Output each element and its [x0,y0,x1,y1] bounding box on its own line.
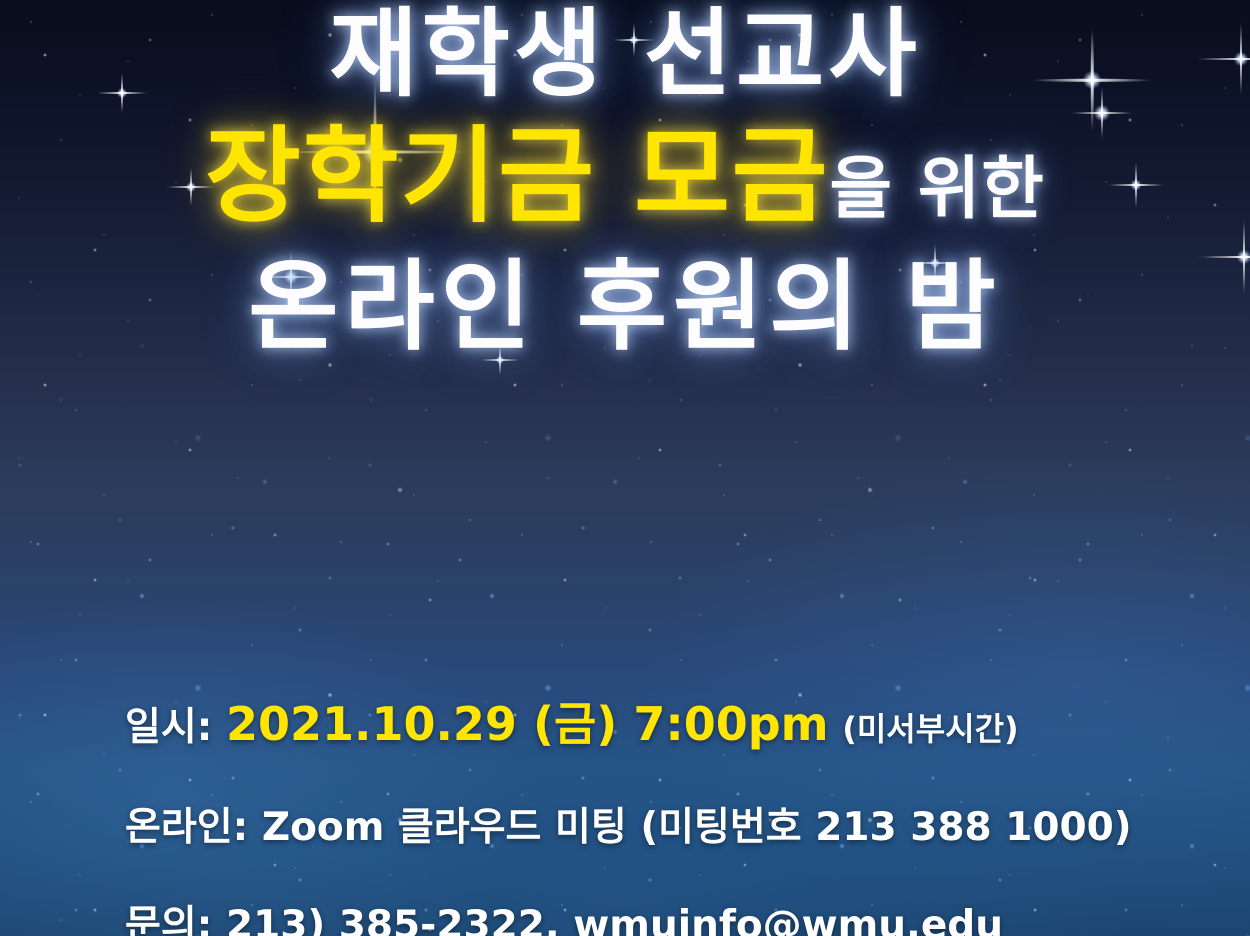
contact-value: 213) 385-2322, wmuinfo@wmu.edu [226,903,1003,936]
online-value: Zoom 클라우드 미팅 (미팅번호 213 388 1000) [262,805,1132,850]
headline-line-3: 온라인 후원의 밤 [0,258,1250,356]
poster-canvas: 재학생 선교사 장학기금 모금을 위한 온라인 후원의 밤 일시: 2021.1… [0,0,1250,936]
contact-label: 문의: [125,903,212,936]
date-timezone-note: (미서부시간) [842,710,1018,748]
headline-line-2: 장학기금 모금을 위한 [0,124,1250,228]
headline-line-2-suffix: 을 위한 [829,150,1044,229]
poster-info-block: 일시: 2021.10.29 (금) 7:00pm (미서부시간) 온라인: Z… [125,688,1132,936]
info-row-contact: 문의: 213) 385-2322, wmuinfo@wmu.edu [125,894,1132,936]
online-label: 온라인: [125,805,248,850]
info-row-date: 일시: 2021.10.29 (금) 7:00pm (미서부시간) [125,688,1132,754]
info-row-online: 온라인: Zoom 클라우드 미팅 (미팅번호 213 388 1000) [125,796,1132,852]
date-label: 일시: [125,705,212,750]
headline-highlight-text: 장학기금 모금 [205,115,829,237]
date-value: 2021.10.29 (금) 7:00pm [226,697,829,751]
headline-line-1: 재학생 선교사 [0,6,1250,102]
poster-headline: 재학생 선교사 장학기금 모금을 위한 온라인 후원의 밤 [0,0,1250,356]
